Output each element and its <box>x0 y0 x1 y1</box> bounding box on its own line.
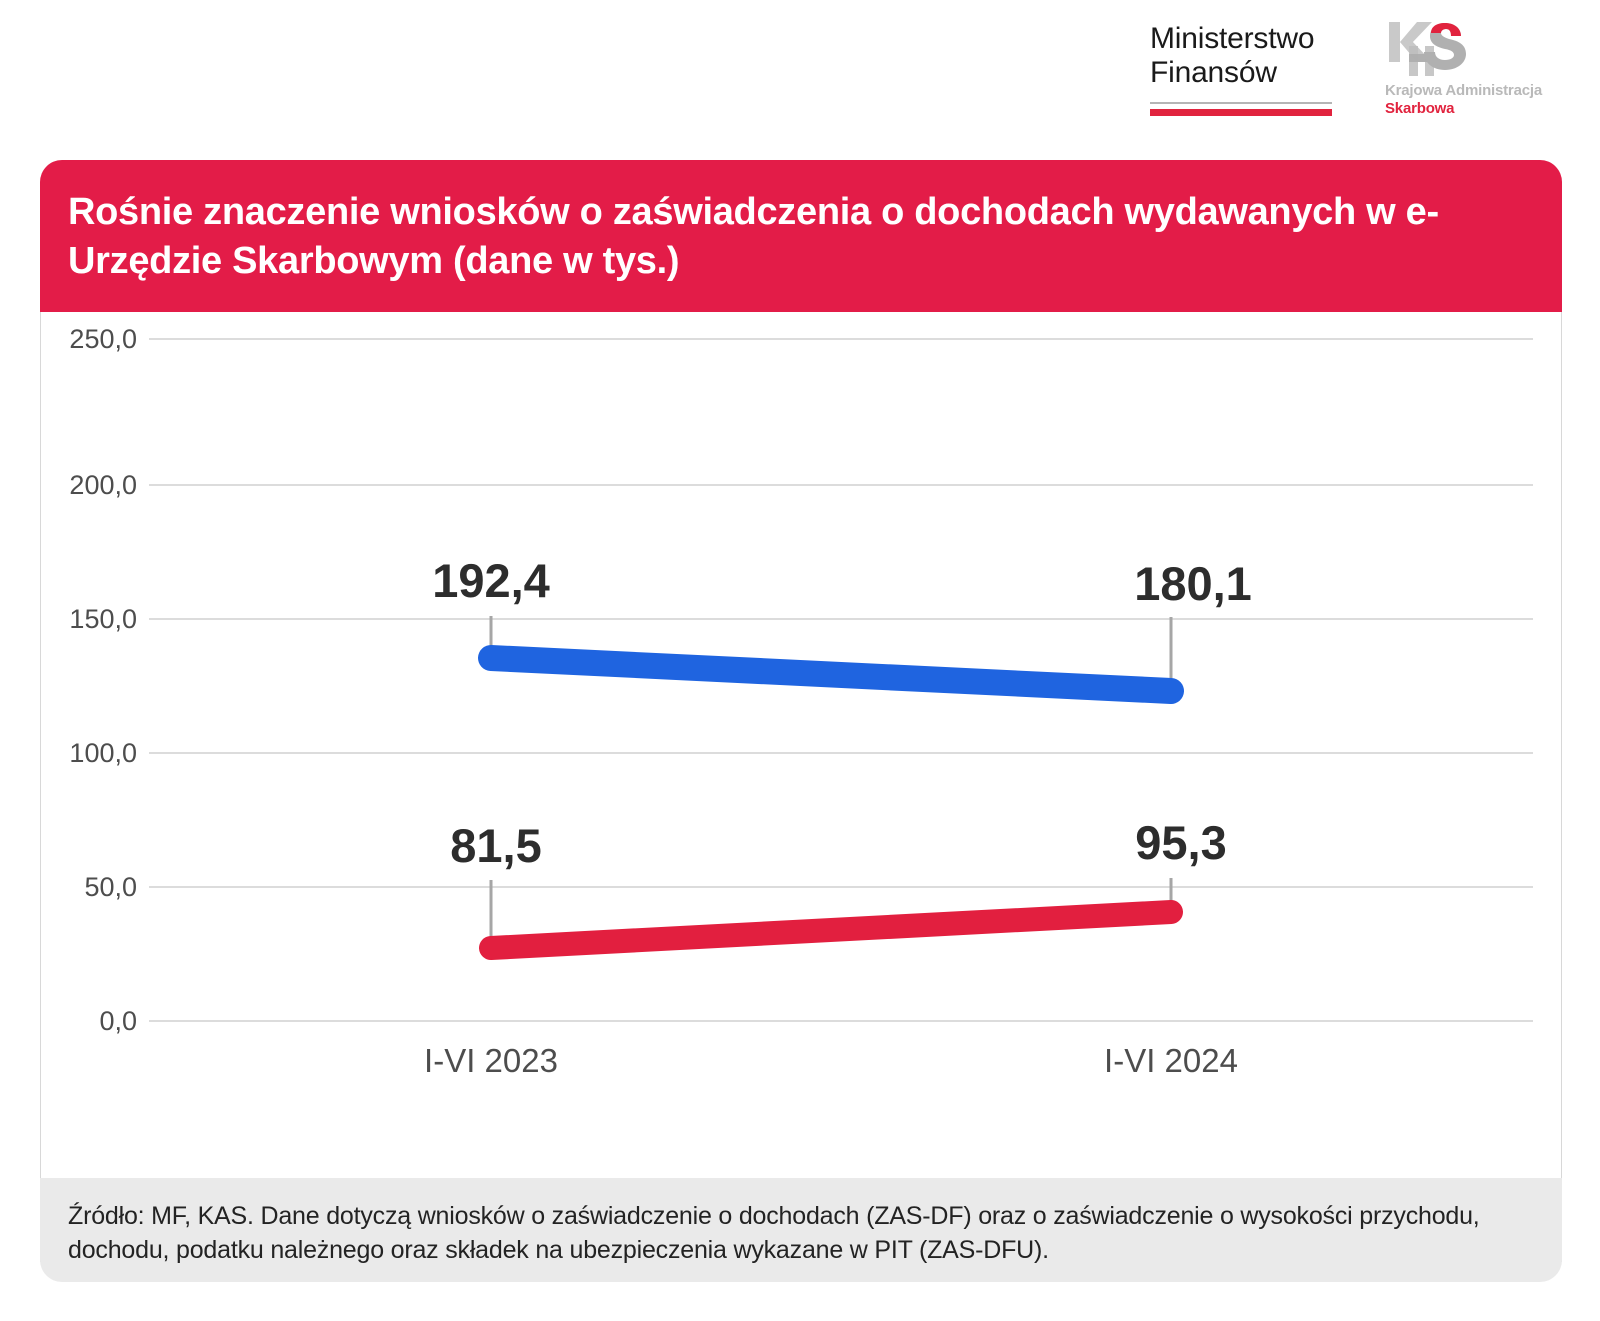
kas-mark-icon <box>1387 20 1475 78</box>
x-axis-category-labels: I-VI 2023 I-VI 2024 <box>424 1042 1238 1079</box>
x-tick-label-2024: I-VI 2024 <box>1104 1042 1238 1079</box>
value-label-red-2023: 81,5 <box>450 819 541 872</box>
series-line-blue <box>491 658 1171 691</box>
y-tick-label: 150,0 <box>69 604 137 634</box>
y-tick-label: 200,0 <box>69 470 137 500</box>
kas-logo: Krajowa Administracja Skarbowa <box>1385 20 1575 117</box>
series-line-red <box>491 912 1171 948</box>
line-chart-svg: 250,0 200,0 150,0 100,0 50,0 0,0 192,4 <box>41 312 1561 1178</box>
page-header: Ministerstwo Finansów Kra <box>0 0 1600 150</box>
y-axis-tick-labels: 250,0 200,0 150,0 100,0 50,0 0,0 <box>69 324 137 1036</box>
chart-card: Rośnie znaczenie wniosków o zaświadczeni… <box>40 160 1562 1280</box>
y-tick-label: 100,0 <box>69 738 137 768</box>
chart-source-footer: Źródło: MF, KAS. Dane dotyczą wniosków o… <box>40 1178 1562 1282</box>
x-tick-label-2023: I-VI 2023 <box>424 1042 558 1079</box>
kas-logo-line2: Skarbowa <box>1385 100 1575 117</box>
source-note: Źródło: MF, KAS. Dane dotyczą wniosków o… <box>68 1200 1532 1267</box>
chart-value-labels: 192,4 180,1 81,5 95,3 <box>432 554 1252 872</box>
page-title: Rośnie znaczenie wniosków o zaświadczeni… <box>68 188 1522 285</box>
y-tick-label: 250,0 <box>69 324 137 354</box>
chart-plot-area: 250,0 200,0 150,0 100,0 50,0 0,0 192,4 <box>40 312 1562 1178</box>
y-tick-label: 0,0 <box>99 1006 137 1036</box>
ministry-of-finance-logo: Ministerstwo Finansów <box>1150 22 1360 116</box>
value-label-red-2024: 95,3 <box>1135 816 1226 869</box>
y-tick-label: 50,0 <box>84 872 137 902</box>
value-label-blue-2024: 180,1 <box>1134 557 1252 610</box>
ministry-logo-gray-rule <box>1150 102 1332 104</box>
kas-logo-line1: Krajowa Administracja <box>1385 82 1575 99</box>
ministry-logo-line2: Finansów <box>1150 56 1360 90</box>
value-label-blue-2023: 192,4 <box>432 554 550 607</box>
ministry-logo-line1: Ministerstwo <box>1150 22 1360 56</box>
ministry-logo-red-rule <box>1150 109 1332 116</box>
chart-title-banner: Rośnie znaczenie wniosków o zaświadczeni… <box>40 160 1562 312</box>
